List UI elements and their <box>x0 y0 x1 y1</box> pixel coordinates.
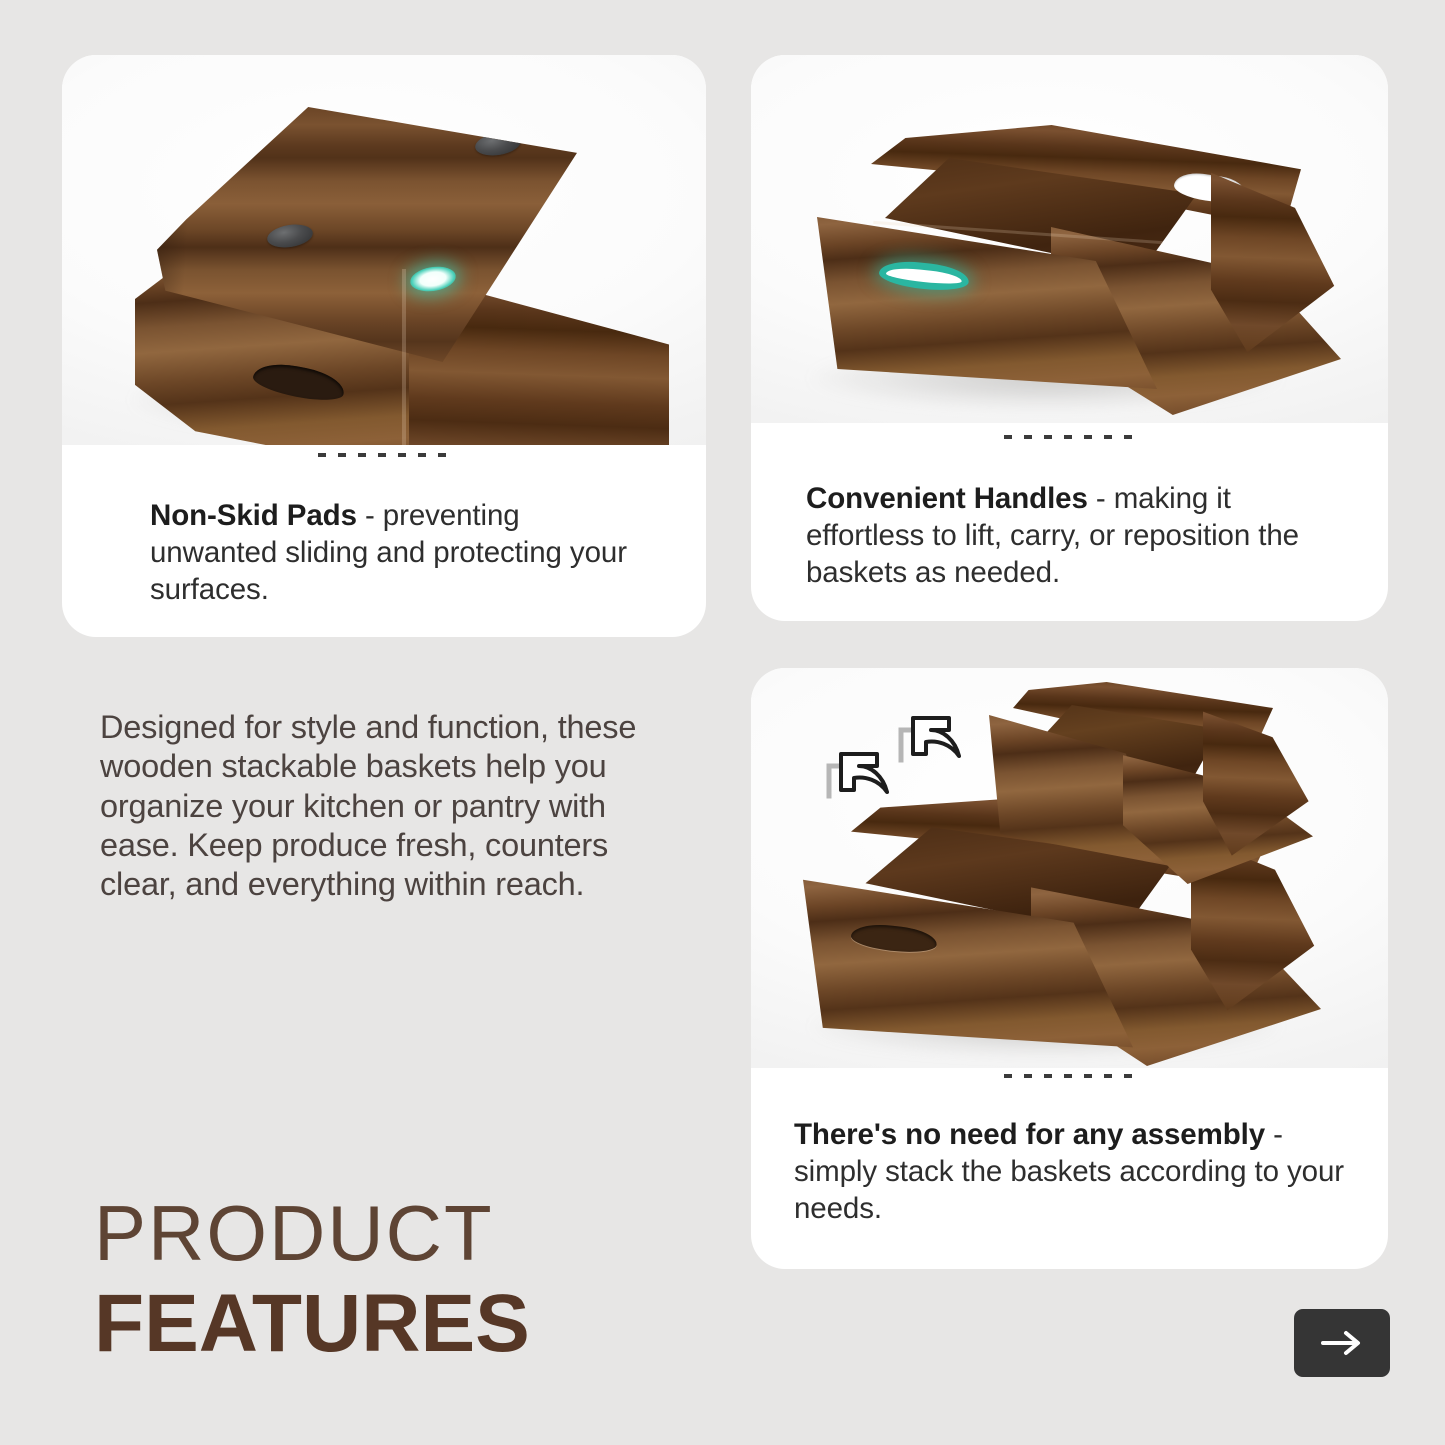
product-image-convenient-handles <box>751 55 1388 423</box>
feature-caption: Non-Skid Pads - preventing unwanted slid… <box>150 497 640 608</box>
non-skid-pad <box>474 130 523 159</box>
edge-highlight <box>402 269 406 445</box>
feature-card-non-skid-pads: Non-Skid Pads - preventing unwanted slid… <box>62 55 706 637</box>
dashed-divider <box>1004 435 1136 439</box>
feature-caption: Convenient Handles - making it effortles… <box>806 480 1351 591</box>
product-image-non-skid-pads <box>62 55 706 445</box>
feature-caption: There's no need for any assembly - simpl… <box>794 1116 1364 1227</box>
page-title-line-2: FEATURES <box>94 1282 530 1366</box>
handle-cutout <box>251 358 347 405</box>
feature-heading: There's no need for any assembly <box>794 1118 1265 1151</box>
page-title: PRODUCT FEATURES <box>94 1194 530 1365</box>
handle-cutout <box>850 922 938 956</box>
dashed-divider <box>318 453 450 457</box>
handle-cutout-highlighted <box>878 258 970 293</box>
dashed-divider <box>1004 1074 1136 1078</box>
stacking-arrow-icon <box>809 704 979 814</box>
arrow-right-icon <box>1319 1329 1365 1357</box>
feature-heading: Non-Skid Pads <box>150 499 357 532</box>
non-skid-pad <box>555 181 604 210</box>
next-button[interactable] <box>1294 1309 1390 1377</box>
product-image-no-assembly <box>751 668 1388 1068</box>
feature-heading: Convenient Handles <box>806 482 1088 515</box>
page-title-line-1: PRODUCT <box>94 1194 530 1274</box>
feature-card-no-assembly: There's no need for any assembly - simpl… <box>751 668 1388 1269</box>
intro-paragraph: Designed for style and function, these w… <box>100 708 640 905</box>
product-features-infographic: Non-Skid Pads - preventing unwanted slid… <box>0 0 1445 1445</box>
feature-card-convenient-handles: Convenient Handles - making it effortles… <box>751 55 1388 621</box>
non-skid-pad <box>266 222 315 251</box>
non-skid-pad-highlighted <box>408 264 457 295</box>
